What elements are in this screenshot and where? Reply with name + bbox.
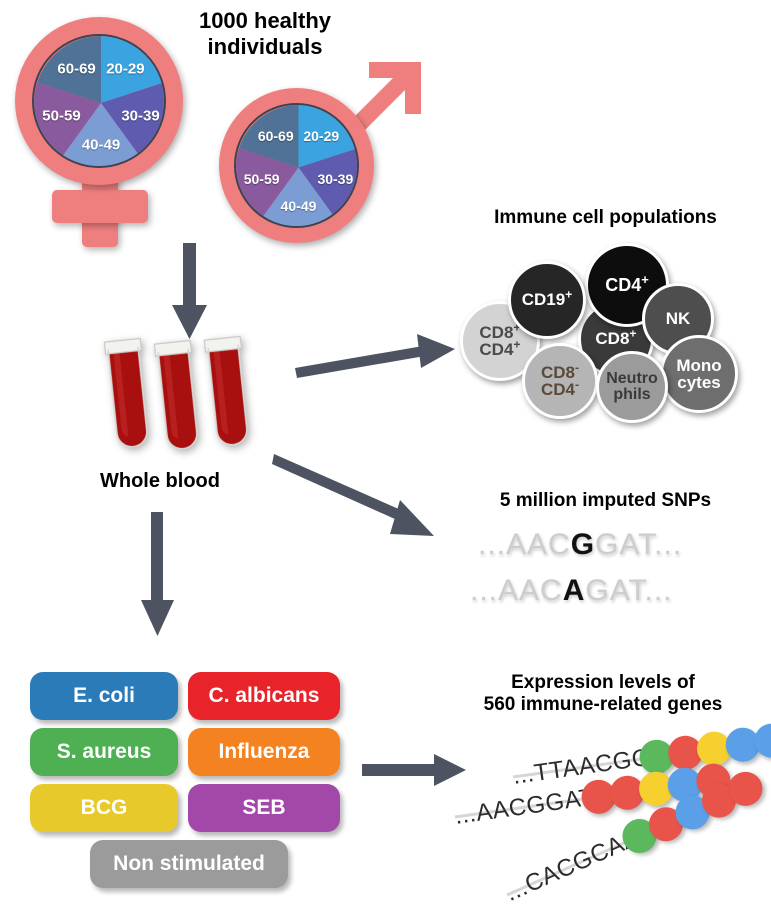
snp-sequence-row: ...AACGGAT... [478, 528, 682, 562]
immune-cell-label: Neutrophils [606, 371, 658, 404]
immune-cell-cd8negcd4neg: CD8-CD4- [522, 343, 598, 419]
pie-slice-label-50-59: 50-59 [244, 171, 280, 187]
immune-cell-label: CD8-CD4- [541, 364, 579, 399]
pie-slice-label-40-49: 40-49 [281, 198, 317, 214]
stimulus-c-albicans[interactable]: C. albicans [188, 672, 340, 720]
male-gender-symbol: 20-2930-3940-4950-5960-69 [197, 60, 427, 250]
stimulus-seb[interactable]: SEB [188, 784, 340, 832]
immune-cell-cd19pos: CD19+ [508, 261, 586, 339]
blood-tube [102, 334, 154, 456]
immune-cell-label: CD8+ [595, 330, 636, 347]
arrow-cohort-to-blood [170, 243, 210, 343]
arrow-blood-to-immune-cells [295, 330, 460, 385]
snps-title: 5 million imputed SNPs [440, 490, 771, 512]
strand-sequence: ...AACGGAT [453, 784, 596, 831]
stimulus-label: SEB [242, 796, 285, 820]
stimulus-influenza[interactable]: Influenza [188, 728, 340, 776]
snp-prefix: ...AAC [478, 528, 571, 561]
immune-cell-label: CD19+ [522, 291, 573, 308]
whole-blood-label: Whole blood [60, 470, 260, 494]
stimulus-label: BCG [81, 796, 128, 820]
immune-cell-label: NK [666, 310, 691, 327]
pie-slice-label-20-29: 20-29 [106, 61, 144, 78]
immune-cell-monocytes: Monocytes [660, 335, 738, 413]
immune-cell-cluster: CD19+CD4+CD8+CD4+CD8+NKCD8-CD4-Neutrophi… [460, 243, 771, 418]
pie-slice-label-50-59: 50-59 [42, 107, 80, 124]
stimulus-label: Non stimulated [113, 852, 265, 876]
stimulus-label: E. coli [73, 684, 135, 708]
pie-slice-label-20-29: 20-29 [303, 128, 339, 144]
snp-variant-allele: G [571, 528, 595, 561]
snp-sequence-row: ...AACAGAT... [470, 574, 673, 608]
stimulus-e-coli[interactable]: E. coli [30, 672, 178, 720]
immune-cell-label: CD8+CD4+ [479, 324, 520, 359]
snp-variant-allele: A [563, 574, 586, 607]
expression-title: Expression levels of 560 immune-related … [435, 672, 771, 717]
stimulus-label: S. aureus [57, 740, 152, 764]
whole-blood-tubes [100, 330, 290, 470]
age-distribution-pie-female: 20-2930-3940-4950-5960-69 [32, 34, 166, 168]
snp-suffix: GAT... [595, 528, 682, 561]
stimulus-bcg[interactable]: BCG [30, 784, 178, 832]
pie-slice-label-60-69: 60-69 [258, 128, 294, 144]
stimulus-s-aureus[interactable]: S. aureus [30, 728, 178, 776]
stimulus-non-stimulated[interactable]: Non stimulated [90, 840, 288, 888]
snp-sequences: ...AACGGAT......AACAGAT... [470, 528, 760, 618]
blood-tube [202, 332, 254, 454]
pie-slice-label-30-39: 30-39 [121, 107, 159, 124]
pie-slice-label-30-39: 30-39 [317, 171, 353, 187]
page-title: 1000 healthy individuals [160, 8, 370, 60]
age-distribution-pie-male: 20-2930-3940-4950-5960-69 [234, 103, 359, 228]
snp-prefix: ...AAC [470, 574, 563, 607]
immune-cell-populations-title: Immune cell populations [440, 207, 771, 229]
blood-tube [152, 336, 204, 458]
stimulus-label: Influenza [218, 740, 309, 764]
snp-suffix: GAT... [585, 574, 672, 607]
stimuli-panel: E. coliC. albicansS. aureusInfluenzaBCGS… [30, 672, 340, 902]
pie-slice-label-60-69: 60-69 [57, 61, 95, 78]
immune-cell-label: Monocytes [676, 357, 721, 392]
arrow-blood-to-stimuli [138, 512, 178, 640]
arrow-blood-to-snps [272, 448, 452, 543]
immune-cell-neutrophils: Neutrophils [596, 351, 668, 423]
gene-expression-strands: ...TTAACGG...AACGGAT...CACGCAA [455, 735, 771, 915]
arrow-stimuli-to-expression [362, 752, 467, 788]
immune-cell-label: CD4+ [605, 276, 649, 294]
stimulus-label: C. albicans [209, 684, 320, 708]
figure-canvas: 1000 healthy individuals 20-2930-3940-49… [0, 0, 771, 922]
pie-slice-label-40-49: 40-49 [82, 136, 120, 153]
female-gender-symbol: 20-2930-3940-4950-5960-69 [10, 12, 190, 252]
female-stem-horizontal [52, 190, 148, 223]
